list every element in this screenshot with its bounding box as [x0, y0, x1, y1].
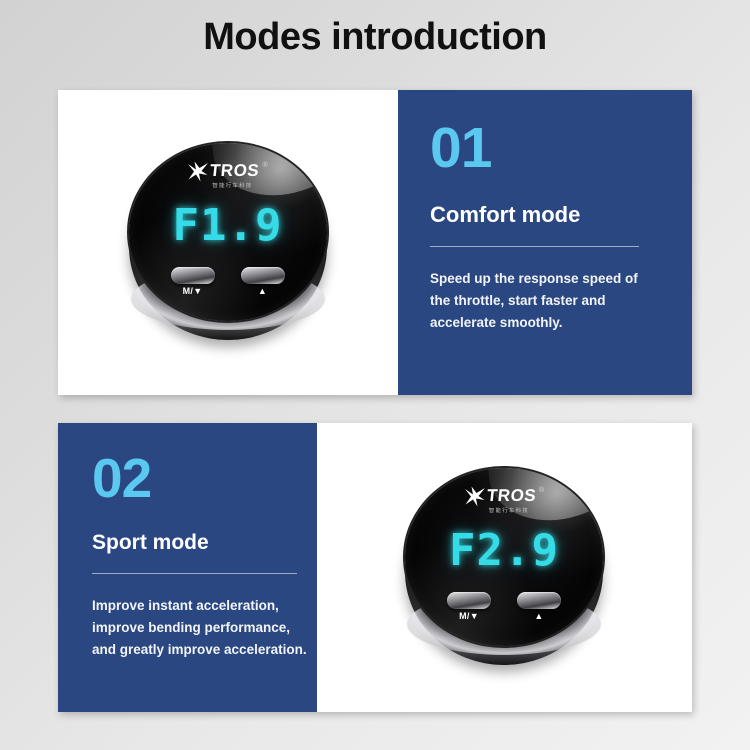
mode-card-comfort: TROS ® 智能行车科技 F1.9 M/▼ ▲ — [58, 90, 692, 395]
device-panel: TROS ® 智能行车科技 F2.9 M/▼ ▲ — [317, 423, 692, 712]
mode-description: Improve instant acceleration, improve be… — [92, 595, 317, 661]
brand-logo: TROS ® 智能行车科技 — [405, 487, 603, 514]
mode-name: Sport mode — [92, 531, 287, 554]
device-button-row: M/▼ ▲ — [129, 267, 327, 296]
mode-info-panel: 01 Comfort mode Speed up the response sp… — [398, 90, 692, 395]
device-button-row: M/▼ ▲ — [405, 592, 603, 621]
mode-down-button-label: M/▼ — [170, 287, 216, 296]
mode-card-sport: TROS ® 智能行车科技 F2.9 M/▼ ▲ — [58, 423, 692, 712]
mode-up-button-cap[interactable] — [517, 592, 561, 609]
mode-name: Comfort mode — [430, 203, 658, 227]
mode-number: 01 — [430, 120, 658, 177]
mode-up-button[interactable]: ▲ — [240, 267, 286, 296]
mode-number: 02 — [92, 451, 287, 506]
mode-down-button[interactable]: M/▼ — [446, 592, 492, 621]
mode-info-panel: 02 Sport mode Improve instant accelerati… — [58, 423, 317, 712]
device-face: TROS ® 智能行车科技 F1.9 M/▼ ▲ — [129, 143, 327, 321]
star-x-icon — [464, 486, 486, 507]
brand-text-block: TROS ® 智能行车科技 — [210, 162, 267, 189]
brand-logo: TROS ® 智能行车科技 — [129, 162, 327, 189]
mode-down-button-label: M/▼ — [446, 612, 492, 621]
brand-name-row: TROS ® — [210, 162, 267, 179]
star-x-icon — [187, 161, 209, 182]
device-face: TROS ® 智能行车科技 F2.9 M/▼ ▲ — [405, 468, 603, 646]
mode-up-button-label: ▲ — [240, 287, 286, 296]
device-display-value: F2.9 — [405, 525, 603, 576]
device-panel: TROS ® 智能行车科技 F1.9 M/▼ ▲ — [58, 90, 398, 395]
registered-trademark-icon: ® — [539, 487, 544, 494]
brand-name-row: TROS ® — [487, 487, 544, 504]
mode-down-button-cap[interactable] — [447, 592, 491, 609]
throttle-controller-device: TROS ® 智能行车科技 F1.9 M/▼ ▲ — [126, 140, 331, 345]
mode-down-button[interactable]: M/▼ — [170, 267, 216, 296]
divider — [430, 246, 639, 247]
mode-up-button[interactable]: ▲ — [516, 592, 562, 621]
brand-subtitle: 智能行车科技 — [489, 506, 529, 513]
device-display-value: F1.9 — [129, 200, 327, 251]
throttle-controller-device: TROS ® 智能行车科技 F2.9 M/▼ ▲ — [402, 465, 607, 670]
registered-trademark-icon: ® — [263, 162, 268, 169]
brand-name: TROS — [486, 487, 537, 504]
brand-subtitle: 智能行车科技 — [212, 181, 252, 188]
page-title: Modes introduction — [0, 16, 750, 59]
brand-text-block: TROS ® 智能行车科技 — [487, 487, 544, 514]
divider — [92, 573, 297, 574]
mode-description: Speed up the response speed of the throt… — [430, 268, 645, 334]
mode-up-button-label: ▲ — [516, 612, 562, 621]
mode-up-button-cap[interactable] — [241, 267, 285, 284]
brand-name: TROS — [209, 162, 260, 179]
mode-down-button-cap[interactable] — [171, 267, 215, 284]
